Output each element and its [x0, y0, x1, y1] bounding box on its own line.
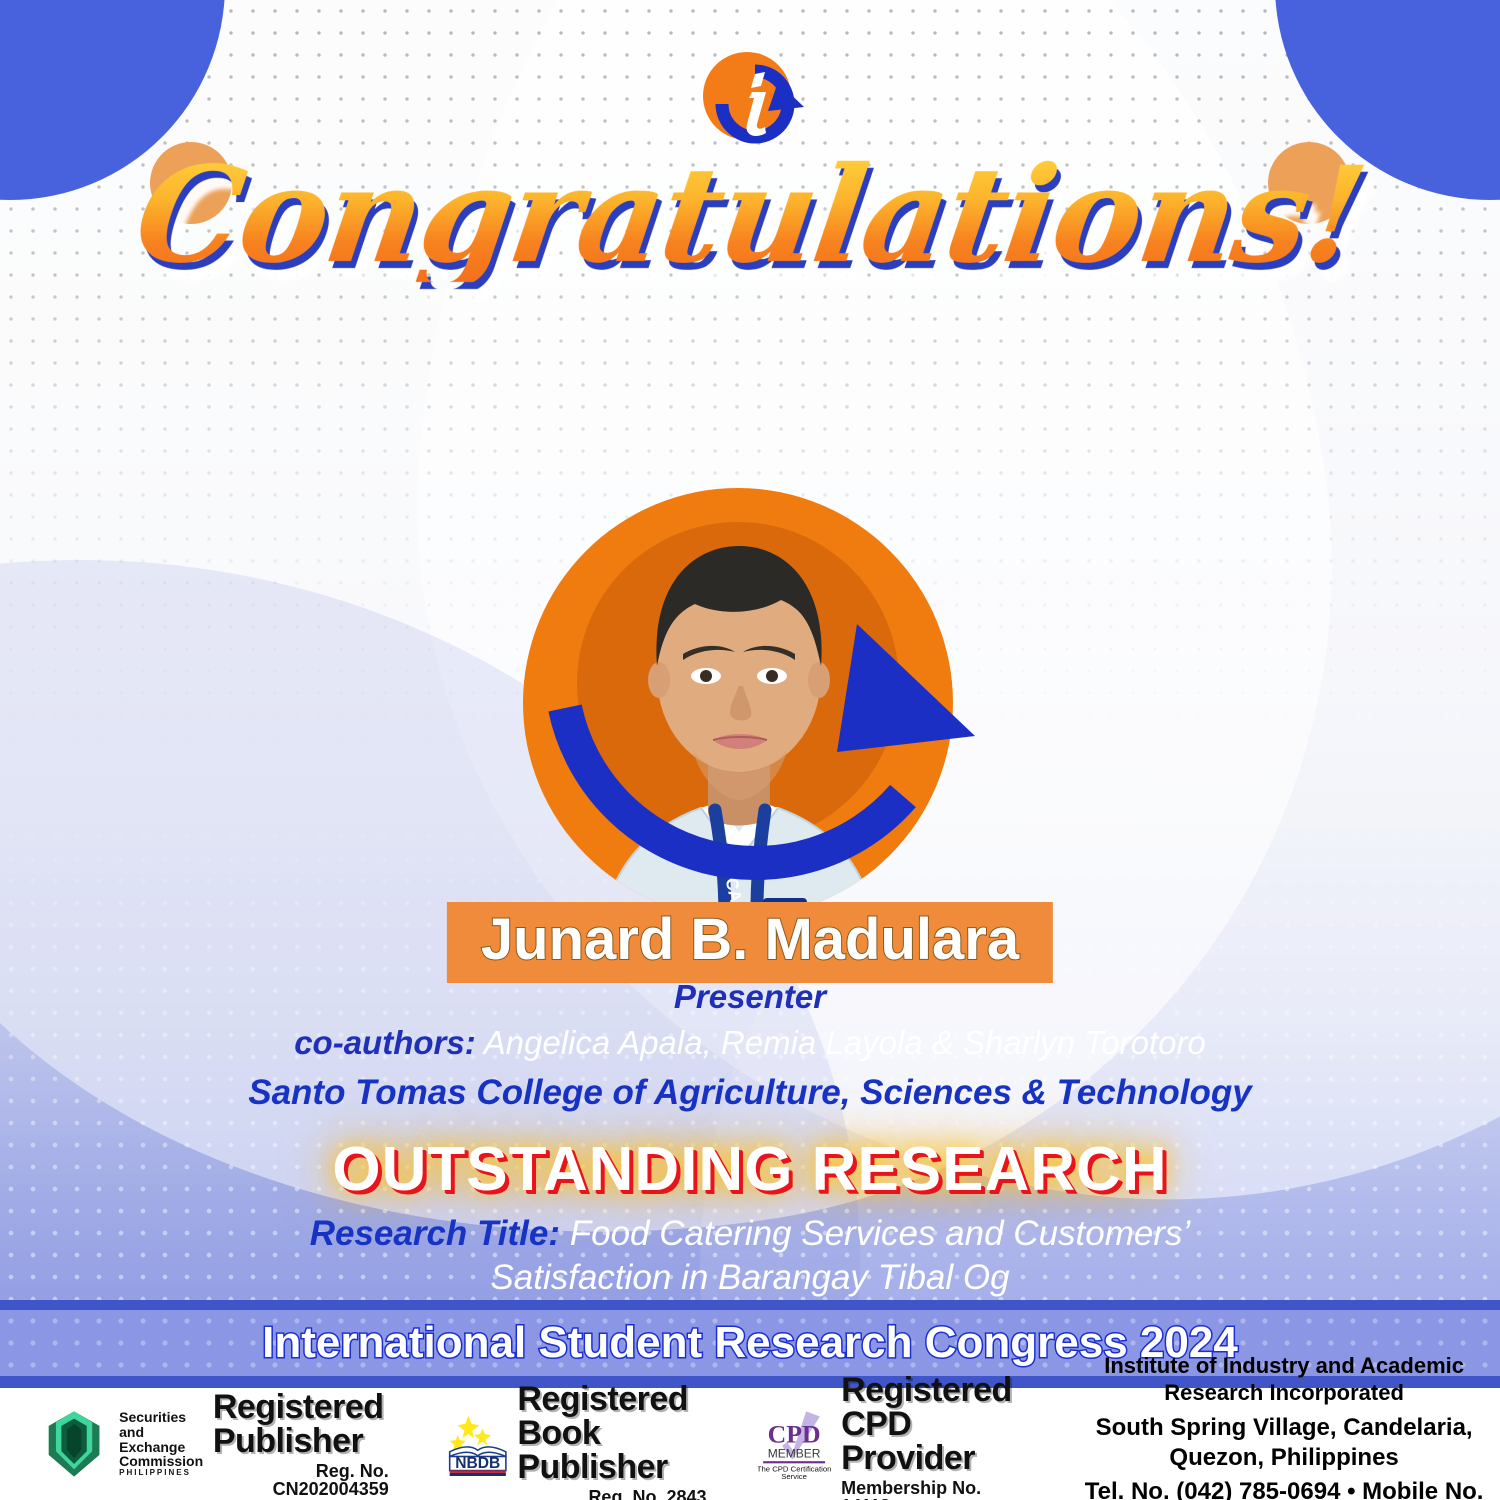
footer-badge-sec: Securities and Exchange Commission PHILI…: [36, 1390, 389, 1498]
coauthors-line: co-authors: Angelica Apala, Remia Layola…: [0, 1024, 1500, 1062]
research-title-line-2: Satisfaction in Barangay Tibal Og: [490, 1258, 1009, 1297]
awardee-affiliation: Santo Tomas College of Agriculture, Scie…: [0, 1073, 1500, 1113]
nbdb-caption-line-1: NBDB: [455, 1455, 500, 1472]
coauthors-label: co-authors:: [294, 1024, 476, 1061]
sec-badge-reg: Reg. No. CN202004359: [213, 1462, 389, 1498]
footer-badge-cpd: CPD MEMBER The CPD Certification Service…: [758, 1373, 1024, 1500]
sec-caption-line-4: PHILIPPINES: [119, 1469, 206, 1477]
awardee-portrait-photo: STCAS: [573, 488, 903, 918]
cpd-caption-line-4: Service: [782, 1472, 808, 1481]
sec-caption-line-3: Commission: [119, 1454, 206, 1469]
congratulations-poster: Congratulations!: [0, 0, 1500, 1500]
nbdb-badge-line-1: Registered: [517, 1382, 706, 1416]
nbdb-badge-line-2: Book Publisher: [517, 1416, 706, 1484]
congratulations-text: Congratulations!: [128, 150, 1371, 282]
sec-badge-text: Registered Publisher Reg. No. CN20200435…: [213, 1390, 389, 1498]
organization-info: Institute of Industry and Academic Resea…: [1068, 1352, 1500, 1500]
awardee-photo-block: STCAS: [515, 466, 985, 936]
footer-badge-nbdb: NBDB Registered Book Publisher Reg. No. …: [445, 1382, 707, 1500]
nbdb-logo: NBDB: [445, 1402, 511, 1486]
award-title: OUTSTANDING RESEARCH: [332, 1134, 1167, 1205]
organization-address: South Spring Village, Candelaria, Quezon…: [1068, 1413, 1500, 1473]
cpd-member-logo: CPD MEMBER The CPD Certification Service: [758, 1402, 834, 1486]
research-title-label: Research Title:: [310, 1214, 560, 1253]
nbdb-badge-text: Registered Book Publisher Reg. No. 2843: [517, 1382, 706, 1500]
sec-badge-line-1: Registered: [213, 1390, 389, 1424]
awardee-role: Presenter: [0, 978, 1500, 1016]
cpd-badge-reg: Membership No. 14118: [841, 1479, 1024, 1500]
cpd-badge-line-2: CPD Provider: [841, 1407, 1024, 1475]
organization-name: Institute of Industry and Academic Resea…: [1068, 1352, 1500, 1407]
footer-bar: Securities and Exchange Commission PHILI…: [0, 1388, 1500, 1500]
cpd-caption-line-1: CPD: [768, 1419, 821, 1448]
sec-caption-line-2: Exchange: [119, 1440, 206, 1455]
congratulations-headline: Congratulations!: [0, 150, 1500, 282]
cpd-caption-line-2: MEMBER: [768, 1447, 821, 1461]
organization-contact: Tel. No. (042) 785-0694 • Mobile No. (+6…: [1068, 1477, 1500, 1500]
nbdb-badge-reg: Reg. No. 2843: [517, 1488, 706, 1500]
sec-philippines-logo: [36, 1402, 112, 1486]
award-title-wrap: OUTSTANDING RESEARCH: [0, 1134, 1500, 1205]
research-title-line-1: Food Catering Services and Customers’: [570, 1214, 1191, 1253]
sec-badge-line-2: Publisher: [213, 1424, 389, 1458]
sec-logo-caption: Securities and Exchange Commission PHILI…: [119, 1410, 206, 1477]
awardee-name: Junard B. Madulara: [481, 910, 1019, 969]
cpd-badge-line-1: Registered: [841, 1373, 1024, 1407]
coauthors-names: Angelica Apala, Remia Layola & Sharlyn T…: [484, 1024, 1206, 1061]
cpd-badge-text: Registered CPD Provider Membership No. 1…: [841, 1373, 1024, 1500]
sec-caption-line-1: Securities and: [119, 1410, 206, 1439]
photo-clip-mask: STCAS: [523, 488, 953, 918]
awardee-name-banner: Junard B. Madulara: [447, 902, 1053, 983]
research-title-block: Research Title: Food Catering Services a…: [0, 1212, 1500, 1300]
